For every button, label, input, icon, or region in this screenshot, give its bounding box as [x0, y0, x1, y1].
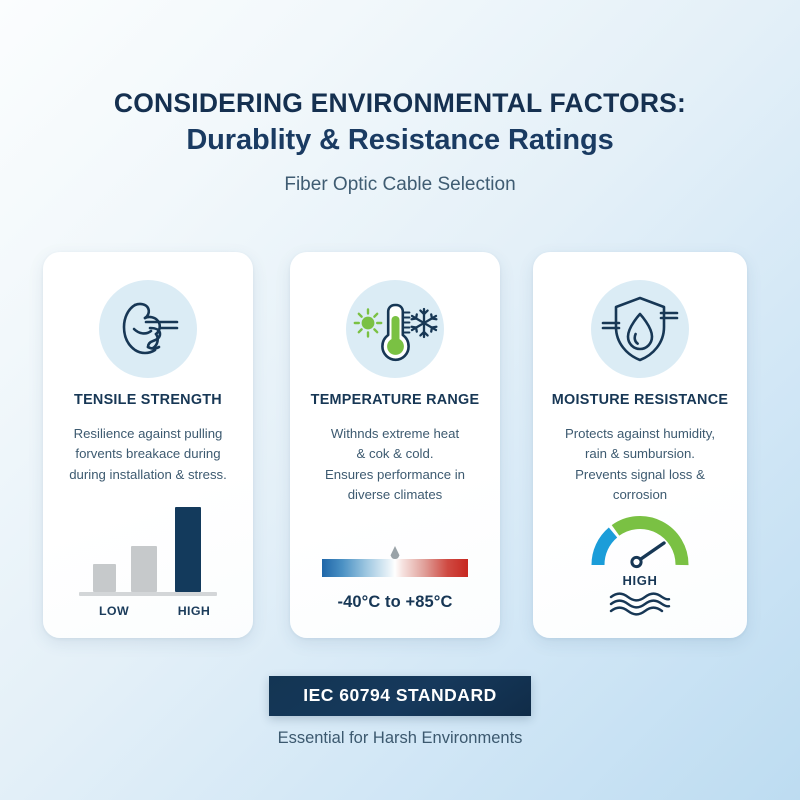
temperature-marker-icon: [391, 546, 400, 559]
footer: IEC 60794 STANDARD Essential for Harsh E…: [0, 676, 800, 748]
bar-chart-baseline: [79, 592, 217, 596]
bar-axis-label-high: HIGH: [166, 604, 222, 618]
moisture-gauge-chart: HIGH: [533, 511, 747, 614]
temperature-gradient-bar: [322, 559, 468, 577]
page-title-line2: Durablity & Resistance Ratings: [0, 122, 800, 160]
gauge-wrap: [590, 511, 690, 569]
footer-note: Essential for Harsh Environments: [0, 729, 800, 748]
temperature-gradient-chart: -40°C to +85°C: [290, 559, 500, 612]
standard-badge: IEC 60794 STANDARD: [269, 676, 530, 716]
card-heading: TEMPERATURE RANGE: [290, 392, 500, 408]
icon-badge-temperature-range: [346, 280, 444, 378]
feature-cards: TENSILE STRENGTH Resilience against pull…: [43, 252, 757, 638]
bar-axis-label-low: LOW: [89, 604, 139, 618]
sun-thermometer-snowflake-icon: [354, 296, 436, 362]
bar-high: [175, 507, 201, 592]
bar-group: [85, 504, 211, 592]
card-description: Protects against humidity, rain & sumbur…: [533, 424, 747, 506]
tensile-bar-chart: LOW HIGH: [43, 502, 253, 618]
infographic-canvas: CONSIDERING ENVIRONMENTAL FACTORS: Durab…: [0, 0, 800, 800]
icon-badge-tensile-strength: [99, 280, 197, 378]
page-subtitle: Fiber Optic Cable Selection: [0, 174, 800, 196]
flexed-bicep-icon: [115, 300, 181, 358]
card-temperature-range[interactable]: TEMPERATURE RANGE Withnds extreme heat &…: [290, 252, 500, 638]
gauge-reading-label: HIGH: [533, 573, 747, 588]
gauge-arc-icon: [590, 511, 690, 569]
card-tensile-strength[interactable]: TENSILE STRENGTH Resilience against pull…: [43, 252, 253, 638]
bar-low: [93, 564, 116, 592]
card-moisture-resistance[interactable]: MOISTURE RESISTANCE Protects against hum…: [533, 252, 747, 638]
icon-badge-moisture-resistance: [591, 280, 689, 378]
header: CONSIDERING ENVIRONMENTAL FACTORS: Durab…: [0, 88, 800, 196]
page-title-line1: CONSIDERING ENVIRONMENTAL FACTORS:: [0, 88, 800, 119]
card-description: Resilience against pulling forvents brea…: [43, 424, 253, 485]
card-heading: TENSILE STRENGTH: [43, 392, 253, 408]
bar-medium: [131, 546, 157, 592]
card-heading: MOISTURE RESISTANCE: [533, 392, 747, 408]
water-waves-icon: [609, 592, 671, 614]
shield-water-drop-icon: [602, 294, 678, 364]
temperature-range-value: -40°C to +85°C: [290, 593, 500, 612]
card-description: Withnds extreme heat & cok & cold. Ensur…: [290, 424, 500, 506]
